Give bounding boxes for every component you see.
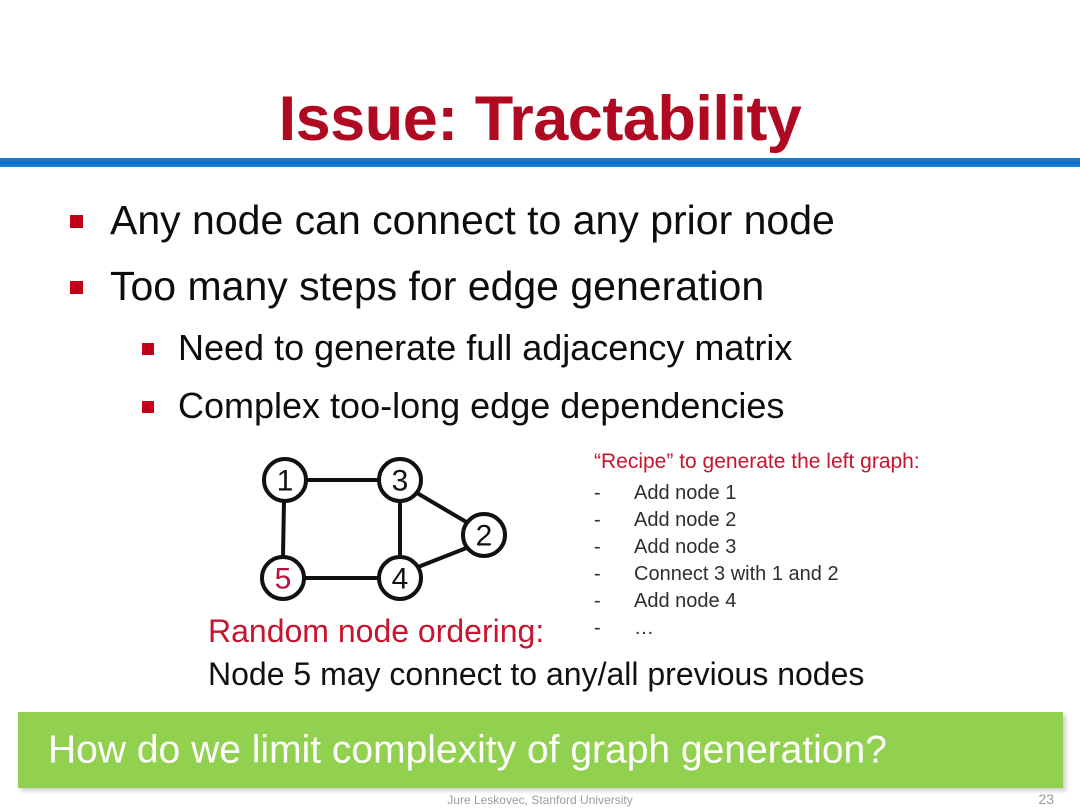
bullet-square-icon	[70, 215, 83, 228]
bullet-text: Any node can connect to any prior node	[110, 200, 835, 241]
sub-bullet-item: Need to generate full adjacency matrix	[142, 330, 792, 366]
graph-node-label-2: 2	[476, 520, 493, 553]
recipe-step: - Add node 4	[594, 591, 1014, 611]
takeaway-banner: How do we limit complexity of graph gene…	[18, 712, 1063, 788]
recipe-step-text: Add node 2	[634, 510, 736, 530]
recipe-dash: -	[594, 618, 634, 638]
recipe-dash: -	[594, 591, 634, 611]
recipe-dash: -	[594, 564, 634, 584]
edge-1-5	[283, 501, 284, 557]
graph-node-label-5: 5	[275, 563, 292, 596]
edge-4-2	[418, 547, 469, 567]
bullet-item: Any node can connect to any prior node	[70, 200, 835, 241]
graph-svg: 1 3 2 5 4	[240, 445, 540, 615]
edge-3-2	[417, 493, 468, 523]
sub-bullet-item: Complex too-long edge dependencies	[142, 388, 784, 424]
graph-nodes	[262, 459, 505, 599]
bullet-item: Too many steps for edge generation	[70, 266, 764, 307]
recipe-dash: -	[594, 483, 634, 503]
bullet-square-icon	[142, 343, 154, 355]
caption-highlight: Random node ordering:	[208, 615, 544, 647]
title-divider	[0, 158, 1080, 167]
graph-node-label-4: 4	[392, 563, 409, 596]
recipe-step: - …	[594, 618, 1014, 638]
graph-edges	[283, 480, 469, 578]
sub-bullet-text: Complex too-long edge dependencies	[178, 388, 784, 424]
recipe-step: - Add node 3	[594, 537, 1014, 557]
recipe-step-text: …	[634, 618, 654, 638]
recipe-dash: -	[594, 537, 634, 557]
footer-attribution: Jure Leskovec, Stanford University	[0, 793, 1080, 807]
recipe-step: - Add node 2	[594, 510, 1014, 530]
graph-diagram: 1 3 2 5 4	[240, 445, 540, 615]
recipe-step: - Add node 1	[594, 483, 1014, 503]
page-title: Issue: Tractability	[0, 86, 1080, 152]
recipe-dash: -	[594, 510, 634, 530]
takeaway-banner-text: How do we limit complexity of graph gene…	[48, 731, 887, 770]
slide: Issue: Tractability Any node can connect…	[0, 0, 1080, 810]
recipe-step-text: Add node 4	[634, 591, 736, 611]
bullet-text: Too many steps for edge generation	[110, 266, 764, 307]
recipe-step: - Connect 3 with 1 and 2	[594, 564, 1014, 584]
bullet-square-icon	[70, 281, 83, 294]
recipe-step-text: Add node 1	[634, 483, 736, 503]
graph-node-label-3: 3	[392, 465, 409, 498]
footer-page-number: 23	[1038, 791, 1054, 807]
recipe-step-text: Add node 3	[634, 537, 736, 557]
recipe-step-text: Connect 3 with 1 and 2	[634, 564, 839, 584]
graph-node-label-1: 1	[277, 465, 294, 498]
recipe-block: “Recipe” to generate the left graph: - A…	[594, 450, 1014, 645]
recipe-heading: “Recipe” to generate the left graph:	[594, 450, 1014, 474]
caption-detail: Node 5 may connect to any/all previous n…	[208, 658, 864, 690]
sub-bullet-text: Need to generate full adjacency matrix	[178, 330, 792, 366]
bullet-square-icon	[142, 401, 154, 413]
